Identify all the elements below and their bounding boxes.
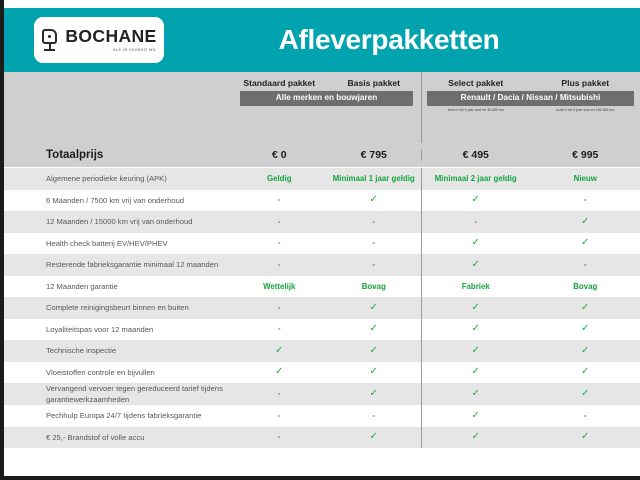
header-label-column — [4, 72, 232, 143]
row-group-renault: ✓✓ — [421, 383, 640, 405]
column-sub-plus: Auto's tot 5 jaar oud en 100.000 km — [531, 109, 640, 113]
cell-standaard: - — [232, 254, 327, 276]
row-group-all-brands: -✓ — [232, 297, 421, 319]
cell-plus-check-icon: ✓ — [531, 340, 640, 362]
cell-basis-check-icon: ✓ — [327, 319, 422, 341]
row-group-renault: ✓✓ — [421, 340, 640, 362]
table-row: Vervangend vervoer tegen gereduceerd tar… — [4, 383, 640, 405]
table-row: 12 Maanden / 15000 km vrij van onderhoud… — [4, 211, 640, 233]
cell-basis-check-icon: ✓ — [327, 383, 422, 405]
feature-label: Health check batterij EV/HEV/PHEV — [4, 238, 232, 249]
cell-standaard: - — [232, 427, 327, 449]
cell-basis-check-icon: ✓ — [327, 340, 422, 362]
cell-plus-check-icon: ✓ — [531, 233, 640, 255]
row-group-renault: ✓- — [421, 405, 640, 427]
cell-standaard: - — [232, 233, 327, 255]
table-row: 6 Maanden / 7500 km vrij van onderhoud-✓… — [4, 190, 640, 212]
cell-standaard: - — [232, 211, 327, 233]
row-group-renault: ✓- — [421, 190, 640, 212]
table-row: Pechhulp Europa 24/7 tijdens fabrieksgar… — [4, 405, 640, 427]
cell-select-check-icon: ✓ — [421, 254, 531, 276]
cell-select-check-icon: ✓ — [421, 190, 531, 212]
feature-label: 12 Maanden / 15000 km vrij van onderhoud — [4, 216, 232, 227]
row-group-all-brands: -✓ — [232, 319, 421, 341]
row-group-all-brands: ✓✓ — [232, 362, 421, 384]
cell-select-check-icon: ✓ — [421, 362, 531, 384]
group-a-brand-pill: Alle merken en bouwjaren — [240, 91, 413, 106]
feature-label: 6 Maanden / 7500 km vrij van onderhoud — [4, 195, 232, 206]
feature-label: 12 Maanden garantie — [4, 281, 232, 292]
table-row: € 25,- Brandstof of volle accu-✓✓✓ — [4, 427, 640, 449]
total-price-select: € 495 — [421, 149, 531, 161]
feature-label: Resterende fabrieksgarantie minimaal 12 … — [4, 259, 232, 270]
table-row: Loyaliteitspas voor 12 maanden-✓✓✓ — [4, 319, 640, 341]
cell-plus-check-icon: ✓ — [531, 319, 640, 341]
table-row: Complete reinigingsbeurt binnen en buite… — [4, 297, 640, 319]
table-row: 12 Maanden garantieWettelijkBovagFabriek… — [4, 276, 640, 298]
row-group-all-brands: -✓ — [232, 190, 421, 212]
row-group-all-brands: -- — [232, 233, 421, 255]
cell-basis-check-icon: ✓ — [327, 297, 422, 319]
row-group-renault: FabriekBovag — [421, 276, 640, 298]
car-key-icon — [41, 28, 60, 52]
feature-label: Algemene periodieke keuring (APK) — [4, 173, 232, 184]
cell-standaard: Geldig — [232, 168, 327, 190]
cell-plus: - — [531, 190, 640, 212]
cell-basis-check-icon: ✓ — [327, 190, 422, 212]
row-group-renault: ✓✓ — [421, 297, 640, 319]
cell-basis-check-icon: ✓ — [327, 362, 422, 384]
table-row: Algemene periodieke keuring (APK)GeldigM… — [4, 168, 640, 190]
cell-basis: Bovag — [327, 276, 422, 298]
row-group-renault: ✓✓ — [421, 319, 640, 341]
column-sub-select: Auto's tot 3 jaar oud en 30.000 km — [421, 109, 531, 113]
cell-basis: - — [327, 211, 422, 233]
cell-select-check-icon: ✓ — [421, 233, 531, 255]
row-group-all-brands: -✓ — [232, 383, 421, 405]
column-title-standaard: Standaard pakket — [232, 78, 327, 88]
row-group-renault: ✓- — [421, 254, 640, 276]
cell-standaard-check-icon: ✓ — [232, 340, 327, 362]
total-price-plus: € 995 — [531, 149, 640, 161]
row-group-all-brands: -- — [232, 211, 421, 233]
cell-plus-check-icon: ✓ — [531, 383, 640, 405]
feature-label: Technische inspectie — [4, 345, 232, 356]
total-price-standaard: € 0 — [232, 149, 327, 161]
cell-standaard-check-icon: ✓ — [232, 362, 327, 384]
feature-label: Complete reinigingsbeurt binnen en buite… — [4, 302, 232, 313]
table-row: Technische inspectie✓✓✓✓ — [4, 340, 640, 362]
cell-standaard: Wettelijk — [232, 276, 327, 298]
group-b-brand-pill: Renault / Dacia / Nissan / Mitsubishi — [427, 91, 634, 106]
column-header-band: Standaard pakket Basis pakket Alle merke… — [4, 72, 640, 143]
cell-select: Fabriek — [421, 276, 531, 298]
cell-select: Minimaal 2 jaar geldig — [421, 168, 531, 190]
cell-select-check-icon: ✓ — [421, 405, 531, 427]
feature-label: Vloeistoffen controle en bijvullen — [4, 367, 232, 378]
cell-plus: - — [531, 254, 640, 276]
row-group-renault: Minimaal 2 jaar geldigNieuw — [421, 168, 640, 190]
cell-plus: - — [531, 405, 640, 427]
column-title-select: Select pakket — [421, 78, 531, 88]
row-group-all-brands: WettelijkBovag — [232, 276, 421, 298]
row-group-all-brands: -✓ — [232, 427, 421, 449]
row-group-renault: ✓✓ — [421, 233, 640, 255]
feature-label: € 25,- Brandstof of volle accu — [4, 432, 232, 443]
column-title-plus: Plus pakket — [531, 78, 640, 88]
cell-plus: Nieuw — [531, 168, 640, 190]
logo-tagline: ALS JE VOORUIT WIL — [113, 49, 157, 52]
cell-standaard: - — [232, 383, 327, 405]
row-group-all-brands: -- — [232, 254, 421, 276]
page-title: Afleverpakketten — [164, 24, 640, 56]
logo-wordmark: BOCHANE — [65, 28, 156, 46]
row-group-renault: ✓✓ — [421, 362, 640, 384]
total-price-basis: € 795 — [327, 149, 422, 161]
cell-plus-check-icon: ✓ — [531, 297, 640, 319]
cell-plus-check-icon: ✓ — [531, 362, 640, 384]
header-banner: BOCHANE ALS JE VOORUIT WIL Afleverpakket… — [4, 8, 640, 72]
feature-label: Pechhulp Europa 24/7 tijdens fabrieksgar… — [4, 410, 232, 421]
cell-basis: - — [327, 405, 422, 427]
cell-basis: - — [327, 254, 422, 276]
total-price-label: Totaalprijs — [4, 149, 232, 161]
cell-basis: - — [327, 233, 422, 255]
cell-standaard: - — [232, 297, 327, 319]
row-group-renault: -✓ — [421, 211, 640, 233]
row-group-all-brands: -- — [232, 405, 421, 427]
package-group-renault: Select pakket Plus pakket Renault / Daci… — [421, 72, 640, 143]
feature-label: Vervangend vervoer tegen gereduceerd tar… — [4, 383, 232, 405]
cell-basis: Minimaal 1 jaar geldig — [327, 168, 422, 190]
table-row: Resterende fabrieksgarantie minimaal 12 … — [4, 254, 640, 276]
package-group-all-brands: Standaard pakket Basis pakket Alle merke… — [232, 72, 421, 143]
cell-plus-check-icon: ✓ — [531, 427, 640, 449]
feature-label: Loyaliteitspas voor 12 maanden — [4, 324, 232, 335]
column-title-basis: Basis pakket — [327, 78, 422, 88]
cell-plus-check-icon: ✓ — [531, 211, 640, 233]
cell-plus: Bovag — [531, 276, 640, 298]
table-row: Vloeistoffen controle en bijvullen✓✓✓✓ — [4, 362, 640, 384]
bochane-logo[interactable]: BOCHANE ALS JE VOORUIT WIL — [34, 17, 164, 63]
cell-basis-check-icon: ✓ — [327, 427, 422, 449]
cell-select-check-icon: ✓ — [421, 340, 531, 362]
row-group-renault: ✓✓ — [421, 427, 640, 449]
total-price-row: Totaalprijs € 0 € 795 € 495 € 995 — [4, 143, 640, 168]
cell-select-check-icon: ✓ — [421, 383, 531, 405]
cell-standaard: - — [232, 190, 327, 212]
cell-select-check-icon: ✓ — [421, 427, 531, 449]
table-row: Health check batterij EV/HEV/PHEV--✓✓ — [4, 233, 640, 255]
cell-standaard: - — [232, 405, 327, 427]
afleverpakketten-sheet: BOCHANE ALS JE VOORUIT WIL Afleverpakket… — [0, 0, 640, 480]
cell-select: - — [421, 211, 531, 233]
cell-select-check-icon: ✓ — [421, 297, 531, 319]
cell-select-check-icon: ✓ — [421, 319, 531, 341]
feature-comparison-table: Algemene periodieke keuring (APK)GeldigM… — [4, 168, 640, 448]
cell-standaard: - — [232, 319, 327, 341]
row-group-all-brands: ✓✓ — [232, 340, 421, 362]
row-group-all-brands: GeldigMinimaal 1 jaar geldig — [232, 168, 421, 190]
